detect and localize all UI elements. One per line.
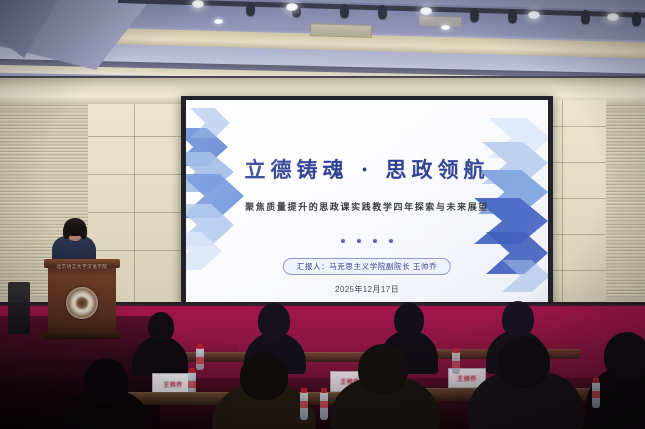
spotlight-4 [470, 8, 479, 22]
name-placard-text-1: 王帅乔 [163, 380, 183, 389]
ceiling-vent [310, 23, 372, 38]
ceiling-downlight-3 [420, 7, 432, 15]
name-placard-text-3: 王帅乔 [457, 374, 477, 383]
ceiling-downlight-2 [286, 3, 298, 11]
slide-subtitle: 聚焦质量提升的思政课实践教学四年探索与未来展望 [186, 201, 548, 213]
ceiling-downlight-7 [441, 25, 450, 30]
slide-dot-1 [341, 239, 345, 243]
water-bottle-6 [592, 382, 600, 408]
school-seal-icon [66, 287, 98, 319]
slide-dot-separator [186, 239, 548, 243]
slide-dot-4 [389, 239, 393, 243]
spotlight-5 [581, 10, 590, 24]
ceiling-vent-2 [418, 15, 462, 27]
water-bottle-4 [300, 392, 308, 420]
slide-dot-3 [373, 239, 377, 243]
loudspeaker-cabinet [8, 282, 30, 334]
water-bottle-5 [320, 392, 328, 420]
spotlight-8 [632, 12, 641, 26]
slide-presenter-pill: 汇报人：马克思主义学院副院长 王帅乔 [283, 258, 451, 275]
stone-panel-wall-right [548, 100, 606, 306]
ceiling-downlight-1 [192, 0, 204, 8]
slide-title: 立德铸魂 · 思政领航 [186, 157, 548, 183]
lecture-hall-photo: 立德铸魂 · 思政领航 聚焦质量提升的思政课实践教学四年探索与未来展望 汇报人：… [0, 0, 645, 429]
ceiling-downlight-5 [607, 13, 619, 21]
ceiling-downlight-4 [528, 11, 540, 19]
spotlight-1 [246, 2, 255, 16]
slide-dot-2 [357, 239, 361, 243]
spotlight-2 [340, 4, 349, 18]
ceiling-downlight-6 [214, 19, 223, 24]
podium-base [44, 332, 120, 339]
slide-date: 2025年12月17日 [186, 284, 548, 295]
spotlight-3 [378, 5, 387, 19]
podium-banner-text: 北京语言大学汉语学院 [50, 262, 114, 272]
spotlight-7 [508, 9, 517, 23]
acoustic-slat-panel-right [604, 104, 645, 306]
water-bottle-3 [452, 352, 460, 374]
projection-screen: 立德铸魂 · 思政领航 聚焦质量提升的思政课实践教学四年探索与未来展望 汇报人：… [186, 100, 548, 307]
water-bottle-1 [196, 348, 204, 370]
speaker-hair [64, 218, 86, 236]
